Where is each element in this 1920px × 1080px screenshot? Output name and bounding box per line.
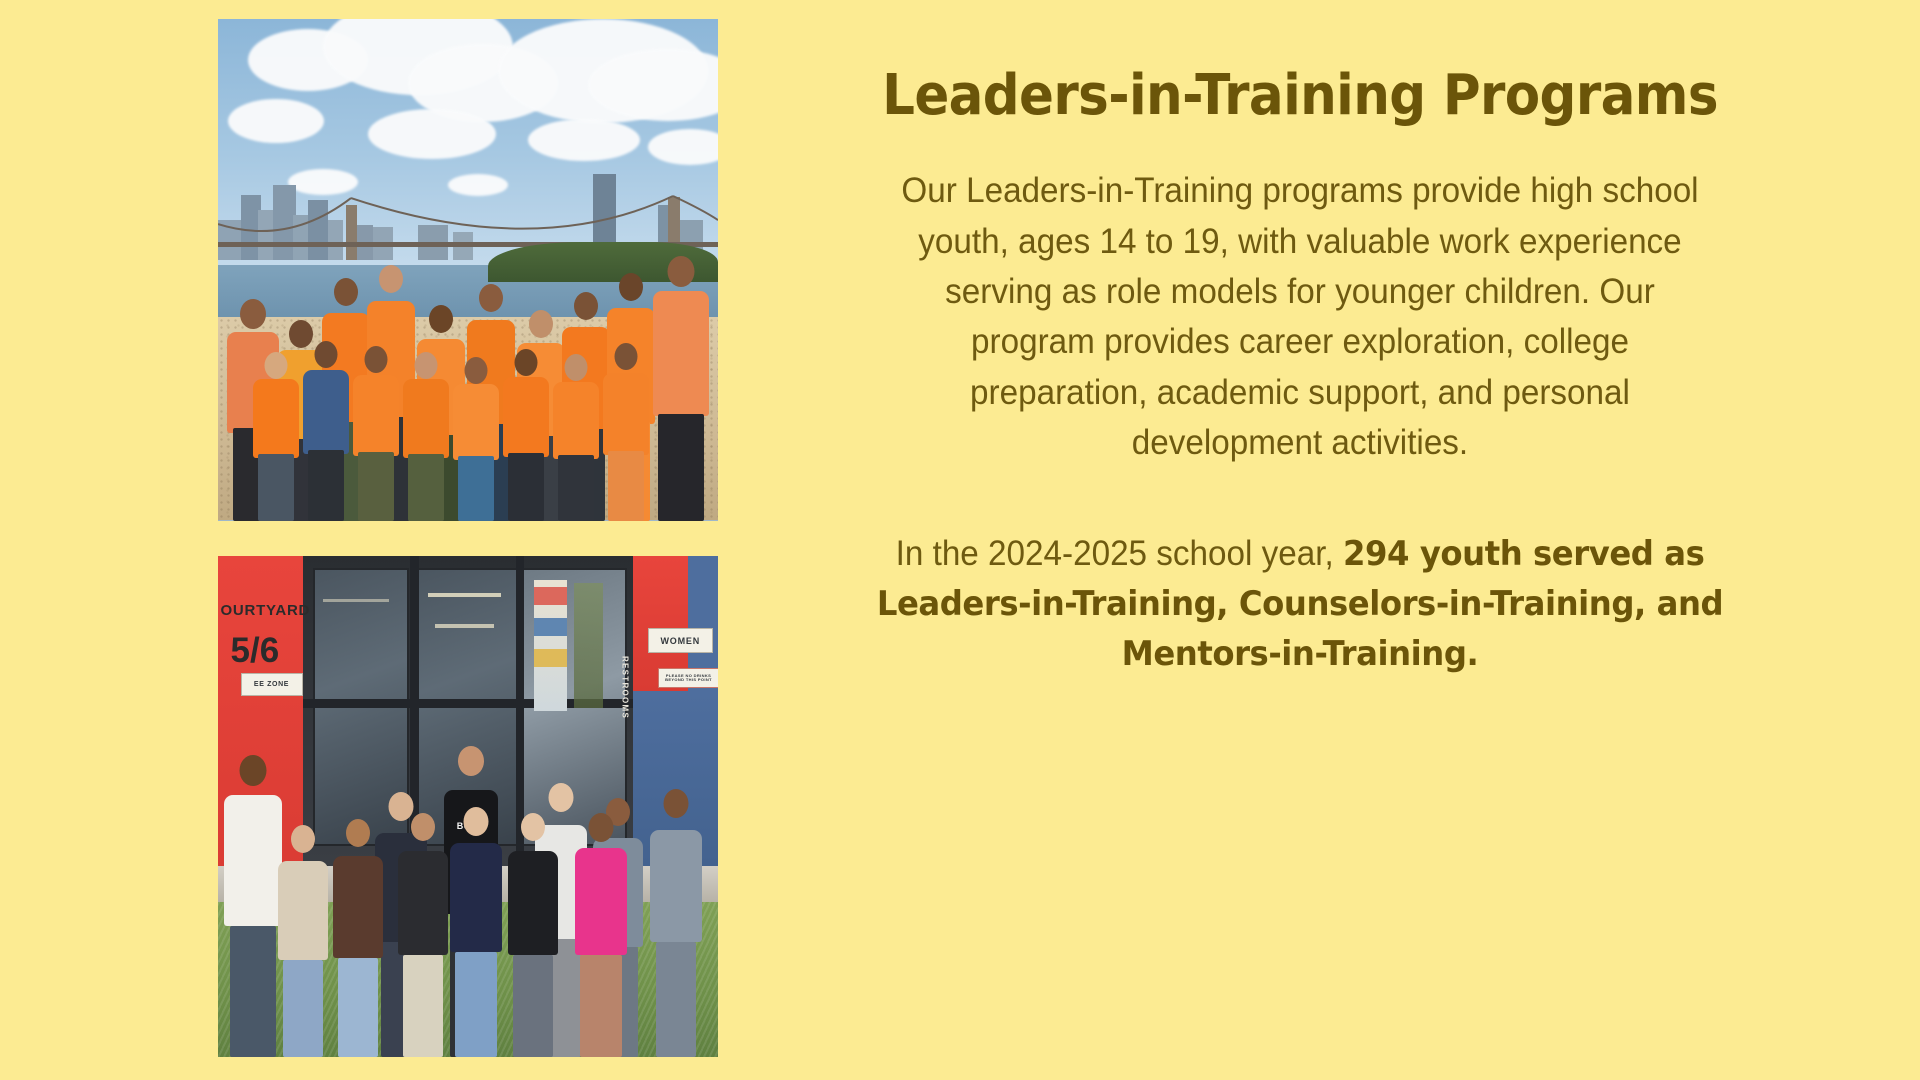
text-column: Leaders-in-Training Programs Our Leaders… [800,0,1800,1080]
person [298,335,353,520]
waterfront-group-photo [218,19,718,521]
impact-statistic: In the 2024-2025 school year, 294 youth … [825,529,1775,680]
slide-canvas: OURTYARD 5/6 EE ZONE WOMEN RESTROOMS PLE… [0,0,1920,1080]
person [398,346,453,520]
person [643,783,708,1057]
women-restroom-sign: WOMEN [648,628,713,653]
restrooms-vertical-sign: RESTROOMS [621,656,630,719]
person [648,254,713,521]
photo-column: OURTYARD 5/6 EE ZONE WOMEN RESTROOMS PLE… [218,19,718,1057]
person [348,341,403,521]
person [448,352,503,520]
waterfront-scene [218,19,718,521]
program-description: Our Leaders-in-Training programs provide… [825,166,1775,468]
person [328,814,388,1057]
person [273,821,333,1057]
courtyard-scene: OURTYARD 5/6 EE ZONE WOMEN RESTROOMS PLE… [218,556,718,1058]
person [503,808,563,1057]
stat-lead-in: In the 2024-2025 school year, [896,534,1343,573]
person [248,346,303,520]
courtyard-group-photo: OURTYARD 5/6 EE ZONE WOMEN RESTROOMS PLE… [218,556,718,1058]
courtyard-wall-label: OURTYARD [221,602,311,619]
person [548,349,603,520]
smoke-free-zone-sign: EE ZONE [241,673,303,696]
person [498,344,553,521]
teen-group: BURB [218,746,718,1057]
page-title: Leaders-in-Training Programs [840,62,1760,130]
no-drinks-sign: PLEASE NO DRINKS BEYOND THIS POINT [658,668,718,688]
courtyard-number-label: 5/6 [231,631,280,671]
youth-group [218,240,718,521]
person [598,338,653,521]
person [568,808,633,1057]
person [443,802,508,1057]
